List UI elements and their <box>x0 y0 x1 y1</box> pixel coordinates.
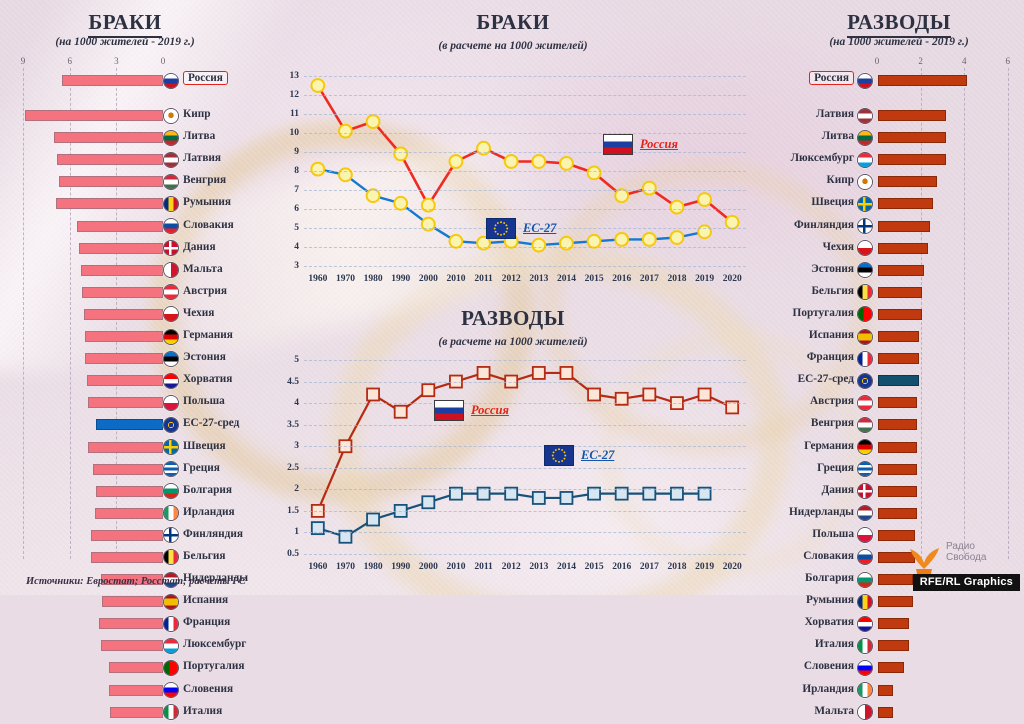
flag-icon-Бельгия <box>857 284 873 300</box>
flag-icon-Дания <box>857 483 873 499</box>
gridline <box>304 171 746 172</box>
country-label-ЕС-27-сред: ЕС-27-сред <box>183 417 239 429</box>
bottom-line-subtitle: (в расчете на 1000 жителей) <box>274 336 752 348</box>
bar-Мальта <box>81 265 163 276</box>
table-row: Эстония <box>0 348 250 370</box>
country-label-Литва: Литва <box>183 130 215 142</box>
bar-Люксембург <box>878 154 946 165</box>
flag-icon-Эстония <box>163 351 179 367</box>
data-point-ЕС-27 <box>367 514 379 526</box>
flag-icon-Греция <box>163 461 179 477</box>
axis-tick: 0 <box>875 56 880 66</box>
x-axis-tick: 2020 <box>723 562 742 572</box>
legend-russia-marriages: Россия <box>603 134 678 155</box>
left-chart-subtitle: (на 1000 жителей - 2019 г.) <box>0 36 250 48</box>
table-row: Греция <box>774 459 1024 481</box>
flag-icon-Словакия <box>163 218 179 234</box>
flag-icon-Россия <box>857 73 873 89</box>
country-label-Польша: Польша <box>183 395 225 407</box>
flag-icon-Нидерланды <box>857 505 873 521</box>
flag-icon-Болгария <box>857 572 873 588</box>
legend-label-eu: ЕС-27 <box>523 221 556 236</box>
country-label-Болгария: Болгария <box>183 484 232 496</box>
bar-Ирландия <box>878 685 893 696</box>
data-point-ЕС-27 <box>311 163 324 176</box>
data-point-Россия <box>588 167 601 180</box>
flag-icon-Финляндия <box>857 218 873 234</box>
legend-label-eu: ЕС-27 <box>581 448 614 463</box>
gridline <box>304 266 746 267</box>
table-row: Бельгия <box>774 282 1024 304</box>
flag-icon-Хорватия <box>857 616 873 632</box>
gridline <box>304 532 746 533</box>
flag-icon-ЕС-27-сред <box>163 417 179 433</box>
data-point-Россия <box>643 182 656 195</box>
data-point-Россия <box>560 157 573 170</box>
country-label-Греция: Греция <box>183 462 220 474</box>
bar-Италия <box>110 707 163 718</box>
country-label-Австрия: Австрия <box>810 395 854 407</box>
x-axis-tick: 2014 <box>557 274 576 284</box>
divorces-bar-chart: РАЗВОДЫ (на 1000 жителей - 2019 г.) 0246… <box>774 0 1024 595</box>
country-label-Швеция: Швеция <box>183 440 226 452</box>
country-label-Россия: Россия <box>183 71 228 85</box>
flag-icon-Румыния <box>163 196 179 212</box>
flag-icon-Словакия <box>857 549 873 565</box>
table-row: Польша <box>0 392 250 414</box>
table-row: Эстония <box>774 260 1024 282</box>
table-row: Испания <box>774 326 1024 348</box>
table-row: Литва <box>774 127 1024 149</box>
bar-Эстония <box>85 353 163 364</box>
x-axis-tick: 2018 <box>667 274 686 284</box>
flag-icon-Португалия <box>163 660 179 676</box>
flag-icon-ЕС-27-сред <box>857 373 873 389</box>
bar-Латвия <box>878 110 946 121</box>
bar-Ирландия <box>95 508 163 519</box>
flag-icon-Финляндия <box>163 527 179 543</box>
table-row: Литва <box>0 127 250 149</box>
gridline <box>304 95 746 96</box>
eu-flag-icon <box>544 445 574 466</box>
flag-icon-Швеция <box>163 439 179 455</box>
country-label-Германия: Германия <box>804 440 854 452</box>
flag-icon-Чехия <box>857 240 873 256</box>
table-row: Мальта <box>774 702 1024 724</box>
y-axis-tick: 4 <box>294 398 299 408</box>
flag-icon-Болгария <box>163 483 179 499</box>
country-label-Чехия: Чехия <box>823 241 854 253</box>
table-row: Мальта <box>0 260 250 282</box>
table-row: Румыния <box>0 193 250 215</box>
country-label-Эстония: Эстония <box>811 263 854 275</box>
x-axis-tick: 2013 <box>529 274 548 284</box>
country-label-Италия: Италия <box>815 638 854 650</box>
country-label-Ирландия: Ирландия <box>183 506 235 518</box>
gridline <box>304 489 746 490</box>
table-row: Чехия <box>774 238 1024 260</box>
data-point-ЕС-27 <box>422 496 434 508</box>
bar-Португалия <box>109 662 163 673</box>
country-label-Польша: Польша <box>812 528 854 540</box>
data-point-ЕС-27 <box>533 492 545 504</box>
country-label-Ирландия: Ирландия <box>802 683 854 695</box>
flag-icon-Эстония <box>857 262 873 278</box>
axis-tick: 3 <box>114 56 119 66</box>
country-label-Словения: Словения <box>183 683 233 695</box>
country-label-Кипр: Кипр <box>827 174 855 186</box>
data-point-Россия <box>339 125 352 138</box>
table-row: Кипр <box>0 105 250 127</box>
table-row: Дания <box>774 481 1024 503</box>
country-label-Греция: Греция <box>817 462 854 474</box>
data-point-ЕС-27 <box>643 233 656 246</box>
country-label-Испания: Испания <box>183 594 228 606</box>
y-axis-tick: 1.5 <box>287 506 299 516</box>
x-axis-tick: 1970 <box>336 274 355 284</box>
table-row: Швеция <box>0 437 250 459</box>
country-label-Венгрия: Венгрия <box>811 417 854 429</box>
bar-Кипр <box>878 176 937 187</box>
table-row: Швеция <box>774 193 1024 215</box>
table-row: Болгария <box>0 481 250 503</box>
country-label-Франция: Франция <box>807 351 854 363</box>
y-axis-tick: 3 <box>294 261 299 271</box>
country-label-Германия: Германия <box>183 329 233 341</box>
gridline <box>304 133 746 134</box>
data-point-ЕС-27 <box>588 235 601 248</box>
bar-Словения <box>109 685 163 696</box>
legend-eu-divorces: ЕС-27 <box>544 445 614 466</box>
y-axis-tick: 7 <box>294 185 299 195</box>
x-axis-tick: 2019 <box>695 274 714 284</box>
country-label-Бельгия: Бельгия <box>183 550 226 562</box>
table-row: Словения <box>774 657 1024 679</box>
data-point-Россия <box>533 367 545 379</box>
country-label-Словакия: Словакия <box>183 219 234 231</box>
flag-icon-Испания <box>163 594 179 610</box>
bar-Хорватия <box>87 375 163 386</box>
bar-Германия <box>878 442 917 453</box>
y-axis-tick: 5 <box>294 355 299 365</box>
flag-icon-Франция <box>857 351 873 367</box>
table-row: Португалия <box>0 657 250 679</box>
data-point-Россия <box>395 406 407 418</box>
right-chart-rows: РоссияЛатвияЛитваЛюксембургКипрШвецияФин… <box>774 70 1024 724</box>
table-row: Германия <box>0 326 250 348</box>
data-point-ЕС-27 <box>560 492 572 504</box>
bar-Румыния <box>878 596 913 607</box>
x-axis-tick: 2010 <box>446 274 465 284</box>
country-label-ЕС-27-сред: ЕС-27-сред <box>798 373 854 385</box>
gridline <box>304 382 746 383</box>
country-label-Чехия: Чехия <box>183 307 214 319</box>
x-axis-tick: 2018 <box>667 562 686 572</box>
axis-tick: 9 <box>21 56 26 66</box>
bar-Дания <box>79 243 163 254</box>
bar-ЕС-27-сред <box>96 419 163 430</box>
bar-Венгрия <box>878 419 917 430</box>
country-label-Люксембург: Люксембург <box>183 638 246 650</box>
country-label-Швеция: Швеция <box>811 196 854 208</box>
data-point-ЕС-27 <box>450 235 463 248</box>
bar-Франция <box>878 353 919 364</box>
country-label-Словения: Словения <box>804 660 854 672</box>
table-row: Люксембург <box>774 149 1024 171</box>
flag-icon-Мальта <box>857 704 873 720</box>
marriages-bar-chart: БРАКИ (на 1000 жителей - 2019 г.) 9630 Р… <box>0 0 250 595</box>
bottom-line-title: РАЗВОДЫ <box>274 306 752 331</box>
flag-icon-Австрия <box>857 395 873 411</box>
bar-Италия <box>878 640 909 651</box>
x-axis-tick: 2000 <box>419 274 438 284</box>
table-row: Франция <box>0 613 250 635</box>
gridline <box>304 247 746 248</box>
legend-label-russia: Россия <box>640 137 678 152</box>
table-row: Россия <box>0 70 250 92</box>
data-point-Россия <box>560 367 572 379</box>
x-axis-tick: 2013 <box>529 562 548 572</box>
table-row: Румыния <box>774 591 1024 613</box>
flag-icon-Румыния <box>857 594 873 610</box>
bar-Литва <box>54 132 163 143</box>
right-chart-subtitle: (на 1000 жителей - 2019 г.) <box>774 36 1024 48</box>
y-axis-tick: 10 <box>290 128 300 138</box>
x-axis-tick: 1980 <box>364 274 383 284</box>
country-label-Дания: Дания <box>821 484 854 496</box>
country-label-Румыния: Румыния <box>806 594 854 606</box>
bar-Греция <box>878 464 917 475</box>
flag-icon-Испания <box>857 329 873 345</box>
flag-icon-Швеция <box>857 196 873 212</box>
x-axis-tick: 2016 <box>612 274 631 284</box>
x-axis-tick: 2000 <box>419 562 438 572</box>
table-row: Испания <box>0 591 250 613</box>
axis-tick: 6 <box>1006 56 1011 66</box>
country-label-Хорватия: Хорватия <box>805 616 854 628</box>
x-axis-tick: 1990 <box>391 274 410 284</box>
marriages-line-chart: БРАКИ (в расчете на 1000 жителей) 345678… <box>274 4 752 300</box>
table-row: Финляндия <box>774 216 1024 238</box>
country-label-Финляндия: Финляндия <box>794 219 854 231</box>
flag-icon-Люксембург <box>857 152 873 168</box>
y-axis-tick: 1 <box>294 527 299 537</box>
country-label-Бельгия: Бельгия <box>811 285 854 297</box>
gridline <box>304 403 746 404</box>
bar-Словения <box>878 662 904 673</box>
x-axis-tick: 2011 <box>474 274 492 284</box>
data-point-Россия <box>671 201 684 214</box>
gridline <box>304 114 746 115</box>
flag-icon-Хорватия <box>163 373 179 389</box>
y-axis-tick: 11 <box>290 109 299 119</box>
country-label-Испания: Испания <box>809 329 854 341</box>
bar-Венгрия <box>59 176 163 187</box>
country-label-Мальта: Мальта <box>814 705 854 717</box>
bar-Чехия <box>84 309 163 320</box>
bar-Россия <box>878 75 967 86</box>
country-label-Болгария: Болгария <box>805 572 854 584</box>
flag-icon-Германия <box>857 439 873 455</box>
table-row: Италия <box>0 702 250 724</box>
table-row: Германия <box>774 437 1024 459</box>
gridline <box>304 468 746 469</box>
table-row: Греция <box>0 459 250 481</box>
x-axis-tick: 2020 <box>723 274 742 284</box>
top-line-title: БРАКИ <box>274 10 752 35</box>
bar-Португалия <box>878 309 922 320</box>
flag-icon-Словения <box>163 682 179 698</box>
flag-icon-Кипр <box>857 174 873 190</box>
bar-Швеция <box>878 198 933 209</box>
bar-Финляндия <box>878 221 930 232</box>
bar-Греция <box>93 464 163 475</box>
country-label-Словакия: Словакия <box>803 550 854 562</box>
x-axis-tick: 1970 <box>336 562 355 572</box>
y-axis-tick: 4.5 <box>287 377 299 387</box>
country-label-Мальта: Мальта <box>183 263 223 275</box>
bar-Испания <box>102 596 163 607</box>
flag-icon-Дания <box>163 240 179 256</box>
y-axis-tick: 8 <box>294 166 299 176</box>
logo-credit: RFE/RL Graphics <box>913 574 1020 591</box>
flag-icon-Венгрия <box>163 174 179 190</box>
bar-Бельгия <box>91 552 163 563</box>
table-row: ЕС-27-сред <box>0 414 250 436</box>
y-axis-tick: 0.5 <box>287 549 299 559</box>
flag-icon-Венгрия <box>857 417 873 433</box>
country-label-Эстония: Эстония <box>183 351 226 363</box>
divorces-line-chart: РАЗВОДЫ (в расчете на 1000 жителей) 0.51… <box>274 300 752 588</box>
country-label-Дания: Дания <box>183 241 216 253</box>
flag-icon-Италия <box>163 704 179 720</box>
country-label-Кипр: Кипр <box>183 108 211 120</box>
country-label-Нидерланды: Нидерланды <box>789 506 854 518</box>
x-axis-tick: 1960 <box>308 562 327 572</box>
gridline <box>304 511 746 512</box>
x-axis-tick: 2010 <box>446 562 465 572</box>
country-label-Хорватия: Хорватия <box>183 373 232 385</box>
table-row: Венгрия <box>0 171 250 193</box>
table-row: Италия <box>774 635 1024 657</box>
bar-Эстония <box>878 265 924 276</box>
data-point-ЕС-27 <box>532 239 545 252</box>
bar-Румыния <box>56 198 163 209</box>
country-label-Венгрия: Венгрия <box>183 174 226 186</box>
flag-icon-Австрия <box>163 284 179 300</box>
bar-Чехия <box>878 243 928 254</box>
table-row: Чехия <box>0 304 250 326</box>
bar-Австрия <box>82 287 163 298</box>
data-point-Россия <box>367 115 380 128</box>
country-label-Италия: Италия <box>183 705 222 717</box>
table-row: Венгрия <box>774 414 1024 436</box>
y-axis-tick: 3 <box>294 441 299 451</box>
flag-icon-Люксембург <box>163 638 179 654</box>
legend-eu-marriages: ЕС-27 <box>486 218 556 239</box>
data-point-Россия <box>698 193 711 206</box>
x-axis-tick: 2015 <box>585 274 604 284</box>
flag-icon-Португалия <box>857 306 873 322</box>
eu-flag-icon <box>486 218 516 239</box>
flag-icon-Франция <box>163 616 179 632</box>
bar-Россия <box>62 75 163 86</box>
country-label-Финляндия: Финляндия <box>183 528 243 540</box>
table-row: Россия <box>774 70 1024 92</box>
table-row: Финляндия <box>0 525 250 547</box>
flag-icon-Чехия <box>163 306 179 322</box>
country-label-Латвия: Латвия <box>816 108 854 120</box>
legend-russia-divorces: Россия <box>434 400 509 421</box>
bar-Болгария <box>96 486 163 497</box>
y-axis-tick: 4 <box>294 242 299 252</box>
data-point-Россия <box>478 367 490 379</box>
table-row: Ирландия <box>0 503 250 525</box>
flag-icon-Латвия <box>857 108 873 124</box>
country-label-Россия: Россия <box>809 71 854 85</box>
y-axis-tick: 5 <box>294 223 299 233</box>
x-axis-tick: 2019 <box>695 562 714 572</box>
bar-Швеция <box>88 442 163 453</box>
flag-icon-Ирландия <box>163 505 179 521</box>
data-point-ЕС-27 <box>671 231 684 244</box>
table-row: Хорватия <box>774 613 1024 635</box>
left-chart-axis-ticks: 9630 <box>0 56 250 70</box>
table-row: Латвия <box>774 105 1024 127</box>
gridline <box>304 152 746 153</box>
table-row: Латвия <box>0 149 250 171</box>
flag-icon-Мальта <box>163 262 179 278</box>
flag-icon-Литва <box>857 130 873 146</box>
data-point-Россия <box>699 388 711 400</box>
gridline <box>304 209 746 210</box>
gridline <box>304 76 746 77</box>
x-axis-tick: 2014 <box>557 562 576 572</box>
bar-Испания <box>878 331 919 342</box>
data-point-Россия <box>615 189 628 202</box>
bar-Дания <box>878 486 917 497</box>
axis-tick: 4 <box>962 56 967 66</box>
flag-icon-Латвия <box>163 152 179 168</box>
y-axis-tick: 2.5 <box>287 463 299 473</box>
flag-icon-Ирландия <box>857 682 873 698</box>
source-note: Источники: Евростат; Росстат; расчеты РС <box>26 576 246 587</box>
data-point-Россия <box>311 79 324 92</box>
y-axis-tick: 6 <box>294 204 299 214</box>
bar-Германия <box>85 331 163 342</box>
flag-icon-Польша <box>857 527 873 543</box>
y-axis-tick: 13 <box>290 71 300 81</box>
top-line-subtitle: (в расчете на 1000 жителей) <box>274 40 752 52</box>
table-row: Хорватия <box>0 370 250 392</box>
flag-icon-Польша <box>163 395 179 411</box>
bar-Люксембург <box>101 640 163 651</box>
country-label-Латвия: Латвия <box>183 152 221 164</box>
data-point-Россия <box>394 148 407 161</box>
flag-icon-Кипр <box>163 108 179 124</box>
x-axis-tick: 2017 <box>640 562 659 572</box>
x-axis-tick: 2011 <box>474 562 492 572</box>
table-row: Австрия <box>774 392 1024 414</box>
gridline <box>304 190 746 191</box>
data-point-Россия <box>505 155 518 168</box>
y-axis-tick: 3.5 <box>287 420 299 430</box>
table-row: Нидерланды <box>774 503 1024 525</box>
x-axis-tick: 2012 <box>502 274 521 284</box>
table-row: Ирландия <box>774 680 1024 702</box>
flag-icon-Словения <box>857 660 873 676</box>
gridline <box>304 446 746 447</box>
